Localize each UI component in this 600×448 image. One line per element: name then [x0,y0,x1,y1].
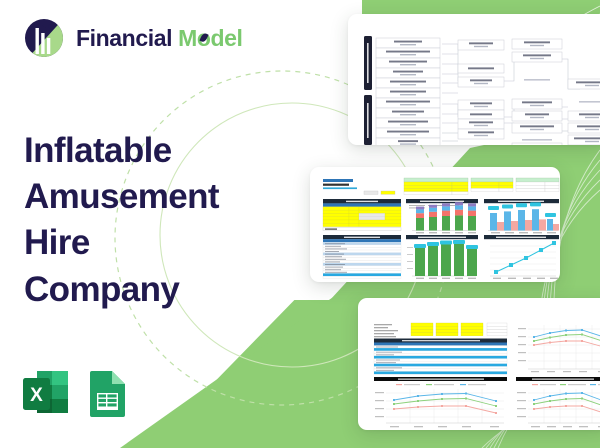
brand-wordmark: Financial Model [76,25,243,52]
financial-charts-screenshot[interactable] [358,298,600,430]
trend-line-chart-2 [375,389,504,427]
slide-canvas: Financial Model Inflatable Amusement Hir… [0,0,600,448]
cash-flow-bar-chart [406,235,478,279]
brand-leaf-o: o [197,25,211,52]
svg-text:X: X [30,385,43,406]
charts-sheet [358,298,600,430]
excel-icon[interactable]: X [22,367,69,419]
cost-inputs-table [323,199,401,231]
top-info-table-2 [471,178,513,192]
circle-bar-chart-logo [23,17,65,59]
trend-line-chart-1 [518,325,600,372]
trend-line-chart-3 [517,389,600,427]
top-info-table-1 [404,178,468,195]
brand-name-primary: Financial [76,25,172,51]
page-title-line-4: Company [24,267,274,313]
google-sheets-icon[interactable] [84,367,131,419]
brand-logo: Financial Model [23,17,243,59]
dashboard-sheet [310,167,560,282]
cost-breakdown-stacked-bar-chart [406,199,478,233]
top-info-table-3 [516,178,559,192]
chart-legend-right [532,384,600,385]
brand-name-secondary-text: Model [178,25,242,51]
summary-financials-table [374,323,507,374]
dupont-analysis-screenshot[interactable] [348,14,600,145]
page-title-line-3: Hire [24,220,274,266]
dupont-sheet [348,14,600,145]
file-format-icons: X [22,367,131,419]
chart-title-bar-left [374,377,507,381]
leaf-icon [199,32,208,43]
dashboard-screenshot[interactable] [310,167,560,282]
page-title-line-1: Inflatable [24,128,274,174]
chart-legend-left [396,384,486,385]
profitability-clustered-bar-chart [484,199,559,233]
cost-summary-table [323,235,401,279]
brand-name-secondary: Model [178,25,242,51]
page-title-line-2: Amusement [24,174,274,220]
investment-payback-line-chart [484,235,559,279]
chart-title-bar-right [516,377,600,381]
dashboard-title-block [323,179,395,194]
page-title: Inflatable Amusement Hire Company [24,128,274,313]
